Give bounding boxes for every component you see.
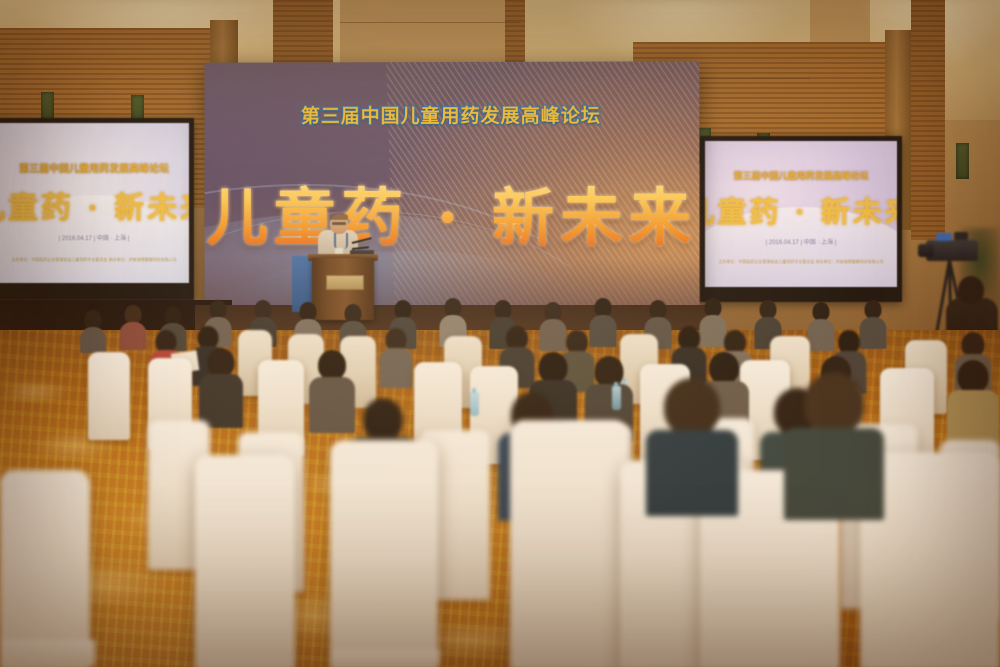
- stage-backdrop: 第三届中国儿童用药发展高峰论坛 儿童药 · 新未来 | 2016.04.17 |…: [204, 61, 699, 314]
- audience-person: [808, 302, 834, 350]
- person-body: [784, 428, 884, 520]
- chair: [195, 455, 295, 667]
- left-screen-slogan: 儿童药 · 新未来: [0, 183, 189, 227]
- right-screen-headline: 第三届中国儿童用药发展高峰论坛: [733, 169, 868, 182]
- audience-person: [200, 348, 242, 426]
- right-screen-footer: 主办单位：中国医药企业管理协会儿童用药专业委员会 承办单位：济南海德健康科技有限…: [718, 259, 883, 265]
- person-body: [199, 374, 243, 428]
- audience-person-foreground: [786, 372, 882, 512]
- audience-person: [948, 360, 998, 450]
- chair: [510, 420, 628, 667]
- backdrop-headline: 第三届中国儿童用药发展高峰论坛: [301, 101, 601, 129]
- carpet-motif-7: [0, 380, 70, 404]
- chair-skirt: [330, 650, 440, 667]
- speaker-glasses: [332, 222, 346, 225]
- speaker-lanyard: [334, 233, 348, 249]
- left-screen-surface: 第三届中国儿童用药发展高峰论坛 儿童药 · 新未来 | 2016.04.17 |…: [0, 123, 189, 283]
- person-head: [804, 372, 864, 434]
- person-head: [958, 360, 989, 393]
- chair-skirt: [0, 640, 95, 667]
- audience-person: [120, 305, 146, 349]
- person-head: [539, 352, 568, 383]
- audience-person: [380, 328, 412, 386]
- wall-column-far-right: [911, 0, 945, 240]
- backdrop-slogan: 儿童药 · 新未来: [207, 167, 698, 258]
- chair: [0, 470, 90, 667]
- person-body: [309, 377, 355, 433]
- left-screen-date: | 2016.04.17 | 中国 · 上海 |: [59, 233, 130, 242]
- person-head: [318, 350, 346, 380]
- person-body: [380, 348, 413, 388]
- audience-person-foreground: [648, 378, 736, 508]
- wall-seam-top: [340, 22, 520, 23]
- camera-operator-head: [958, 276, 984, 304]
- right-screen-date: | 2016.04.17 | 中国 · 上海 |: [766, 237, 837, 246]
- chair: [330, 440, 438, 667]
- person-head: [664, 378, 720, 436]
- conference-hall-photo: 第三届中国儿童用药发展高峰论坛 儿童药 · 新未来 | 2016.04.17 |…: [0, 0, 1000, 667]
- left-screen-headline: 第三届中国儿童用药发展高峰论坛: [19, 160, 169, 175]
- right-screen-slogan: 儿童药 · 新未来: [705, 189, 897, 231]
- water-bottle: [612, 386, 621, 410]
- person-body: [120, 322, 147, 350]
- person-head: [363, 398, 403, 441]
- person-body: [808, 319, 835, 351]
- audience-person: [310, 350, 354, 430]
- podium-nameplate: [326, 275, 364, 290]
- person-head: [595, 356, 624, 387]
- camera-viewfinder: [954, 232, 968, 240]
- person-head: [208, 348, 235, 377]
- water-bottle: [470, 392, 479, 416]
- person-body: [80, 327, 106, 353]
- person-body: [646, 430, 738, 516]
- chair: [88, 352, 130, 440]
- speaker-hair: [330, 213, 348, 220]
- audience-person: [80, 310, 106, 350]
- camera-top-light: [936, 233, 952, 241]
- camera-lens: [918, 244, 934, 257]
- right-screen-frame: 第三届中国儿童用药发展高峰论坛 儿童药 · 新未来 | 2016.04.17 |…: [700, 136, 902, 302]
- left-screen-footer: 主办单位：中国医药企业管理协会儿童用药专业委员会 承办单位：济南海德健康科技有限…: [11, 257, 176, 263]
- wall-inset-green-6: [956, 143, 969, 179]
- right-screen-surface: 第三届中国儿童用药发展高峰论坛 儿童药 · 新未来 | 2016.04.17 |…: [705, 141, 897, 287]
- left-screen-frame: 第三届中国儿童用药发展高峰论坛 儿童药 · 新未来 | 2016.04.17 |…: [0, 118, 194, 300]
